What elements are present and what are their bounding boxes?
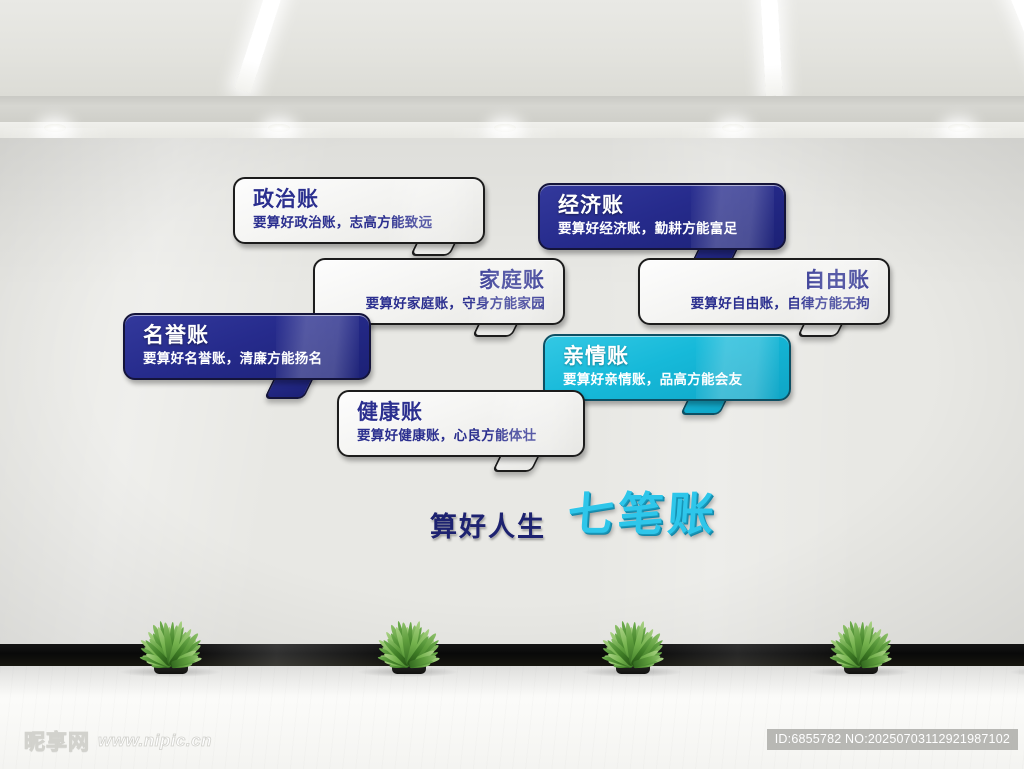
downlight-1	[44, 124, 66, 132]
ceiling-cove-band	[0, 96, 1024, 122]
wall-mural-scene: 政治账 要算好政治账，志高方能致远 经济账 要算好经济账，勤耕方能富足 家庭账 …	[0, 0, 1024, 769]
bubble-subtitle: 要算好健康账，心良方能体壮	[357, 428, 565, 444]
watermark-id: ID:6855782 NO:20250703112921987102	[767, 729, 1018, 750]
potted-plant-4	[800, 608, 920, 674]
downlight-4	[722, 124, 744, 132]
potted-plant-3	[572, 608, 692, 674]
bubble-title: 政治账	[253, 188, 465, 212]
bubble-title: 健康账	[357, 401, 565, 425]
headline-primary: 算好人生	[430, 505, 546, 544]
mural-headline: 算好人生 七笔账	[430, 478, 718, 544]
bubble-political[interactable]: 政治账 要算好政治账，志高方能致远	[233, 177, 485, 244]
bubble-freedom[interactable]: 自由账 要算好自由账，自律方能无拘	[638, 258, 890, 325]
potted-plant-5	[1000, 608, 1024, 674]
bubble-reputation[interactable]: 名誉账 要算好名誉账，清廉方能扬名	[123, 313, 371, 380]
bubble-subtitle: 要算好经济账，勤耕方能富足	[558, 221, 766, 237]
bubble-title: 名誉账	[143, 324, 351, 348]
headline-accent: 七笔账	[566, 478, 721, 544]
bubble-kinship[interactable]: 亲情账 要算好亲情账，品高方能会友	[543, 334, 791, 401]
bubble-subtitle: 要算好政治账，志高方能致远	[253, 215, 465, 231]
watermark-logo: 昵享网 www.nipic.cn	[24, 726, 212, 756]
watermark-brand: 昵享网	[24, 726, 90, 756]
bubble-economic[interactable]: 经济账 要算好经济账，勤耕方能富足	[538, 183, 786, 250]
bubble-health[interactable]: 健康账 要算好健康账，心良方能体壮	[337, 390, 585, 457]
ceiling-light-strip-2	[760, 0, 783, 96]
bubble-title: 家庭账	[333, 269, 545, 293]
downlight-3	[494, 124, 516, 132]
bubble-subtitle: 要算好名誉账，清廉方能扬名	[143, 351, 351, 367]
bubble-title: 经济账	[558, 194, 766, 218]
ceiling	[0, 0, 1024, 96]
bubble-title: 亲情账	[563, 345, 771, 369]
ceiling-light-strip-5	[1007, 0, 1024, 91]
downlight-5	[948, 124, 970, 132]
bubble-subtitle: 要算好亲情账，品高方能会友	[563, 372, 771, 388]
bubble-subtitle: 要算好自由账，自律方能无拘	[658, 296, 870, 312]
downlight-2	[268, 124, 290, 132]
bubble-subtitle: 要算好家庭账，守身方能家园	[333, 296, 545, 312]
potted-plant-2	[348, 608, 468, 674]
potted-plant-1	[110, 608, 230, 674]
watermark-url: www.nipic.cn	[98, 731, 212, 751]
ceiling-light-strip-1	[234, 0, 284, 93]
bubble-title: 自由账	[658, 269, 870, 293]
